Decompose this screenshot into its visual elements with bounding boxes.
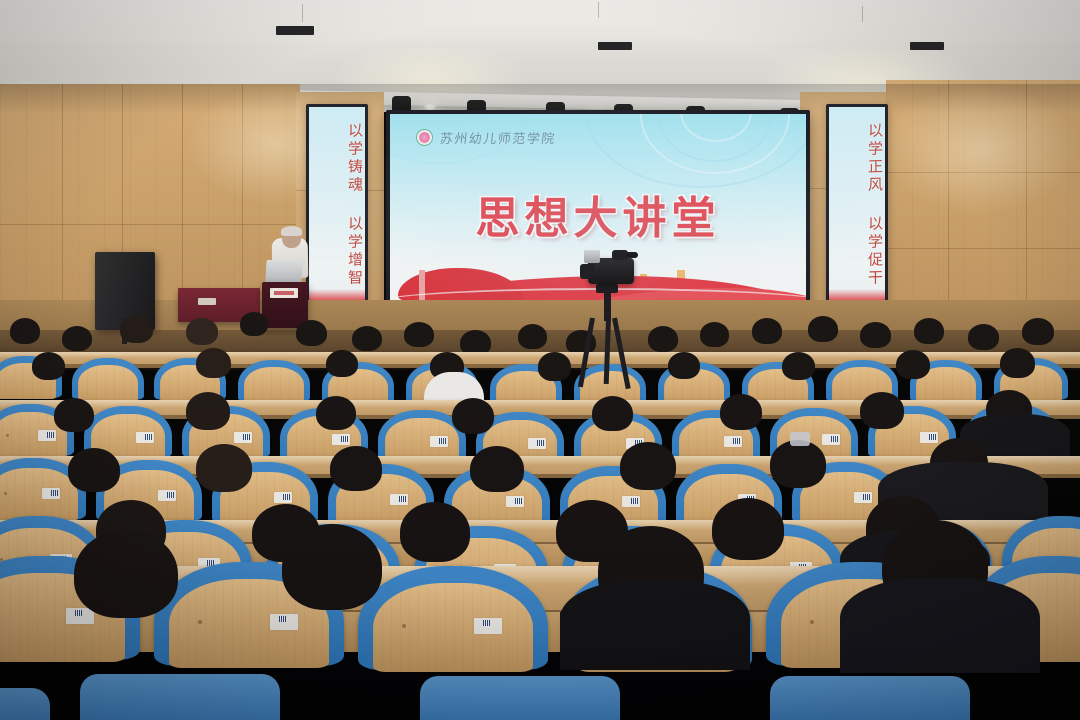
banner-right-text: 以学正风 以学促干 [829,122,885,288]
banner-left-text: 以学铸魂 以学增智 [309,122,365,288]
table-nameplate [198,298,216,305]
presenter-hair [281,226,302,236]
camera-microphone [626,252,638,258]
ceiling-fixture [276,26,314,35]
auditorium-photo: 以学铸魂 以学增智 以学正风 以学促干 苏州幼儿师范学院 思想大讲堂 [0,0,1080,720]
ceiling-fixture [910,42,944,50]
banner-right: 以学正风 以学促干 [826,104,888,326]
main-projection-screen: 苏州幼儿师范学院 思想大讲堂 [386,110,810,326]
camera-lcd-screen [584,250,600,263]
camera-lens [580,264,594,279]
institution-name: 苏州幼儿师范学院 [439,128,557,147]
laptop-on-podium [265,260,302,282]
presentation-title: 思想大讲堂 [390,182,806,246]
ceiling-fixture [598,42,632,50]
ceiling-slab [0,0,1080,42]
ceiling-wire [302,4,303,22]
screen-logo: 苏州幼儿师范学院 [416,128,556,147]
ripple-decor [586,110,810,188]
banner-left: 以学铸魂 以学增智 [306,104,368,326]
ceiling-wire [598,2,599,18]
podium-nameplate [270,288,298,298]
institution-emblem-icon [416,129,433,146]
hair-clip [790,432,810,446]
ceiling-wire [862,6,863,22]
